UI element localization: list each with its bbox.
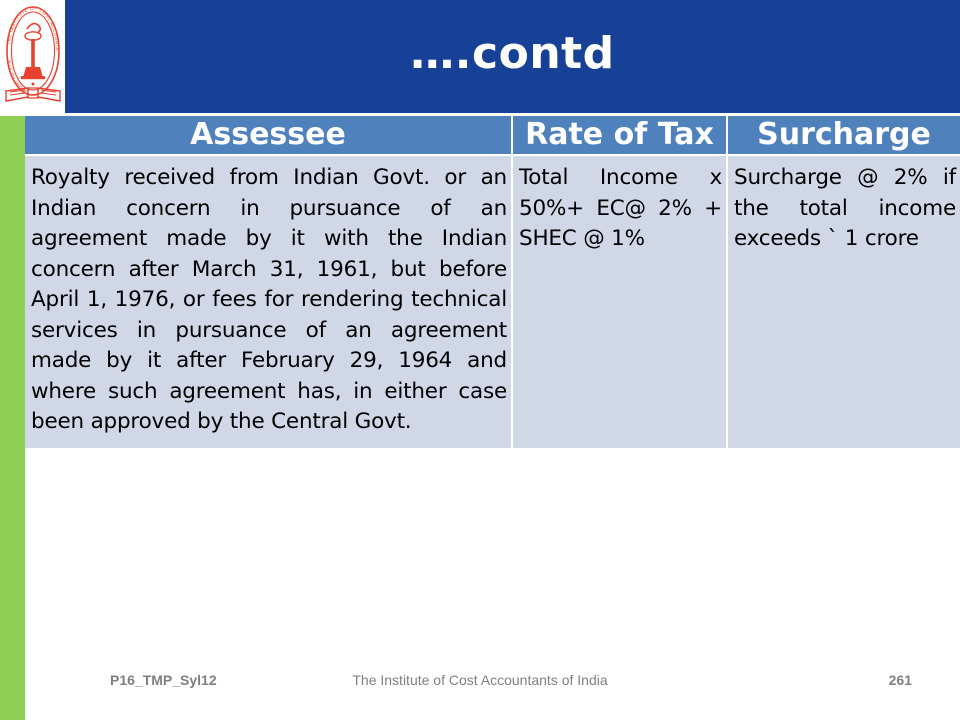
footer-institute-name: The Institute of Cost Accountants of Ind…: [0, 672, 960, 688]
column-header-assessee: Assessee: [25, 116, 512, 155]
table-header-row: Assessee Rate of Tax Surcharge: [25, 116, 960, 155]
cell-rate-of-tax: Total Income x 50%+ EC@ 2% + SHEC @ 1%: [512, 155, 727, 448]
tax-rates-table: Assessee Rate of Tax Surcharge Royalty r…: [25, 116, 960, 448]
slide-footer: P16_TMP_Syl12 The Institute of Cost Acco…: [0, 672, 960, 702]
left-accent-bar: [0, 116, 25, 720]
cell-assessee: Royalty received from Indian Govt. or an…: [25, 155, 512, 448]
institute-of-cost-accountants-of-india-seal-icon: THE INSTITUTE OF COST ACCOUNTA AIDNI FO …: [2, 3, 64, 111]
table-body: Royalty received from Indian Govt. or an…: [25, 155, 960, 448]
page-title: ….contd: [410, 32, 614, 82]
table-row: Royalty received from Indian Govt. or an…: [25, 155, 960, 448]
cell-surcharge: Surcharge @ 2% if the total income excee…: [727, 155, 960, 448]
institute-logo: THE INSTITUTE OF COST ACCOUNTA AIDNI FO …: [0, 0, 65, 113]
column-header-surcharge: Surcharge: [727, 116, 960, 155]
table-header: Assessee Rate of Tax Surcharge: [25, 116, 960, 155]
slide-title-banner: ….contd: [65, 0, 960, 113]
column-header-rate-of-tax: Rate of Tax: [512, 116, 727, 155]
footer-page-number: 261: [889, 672, 912, 688]
